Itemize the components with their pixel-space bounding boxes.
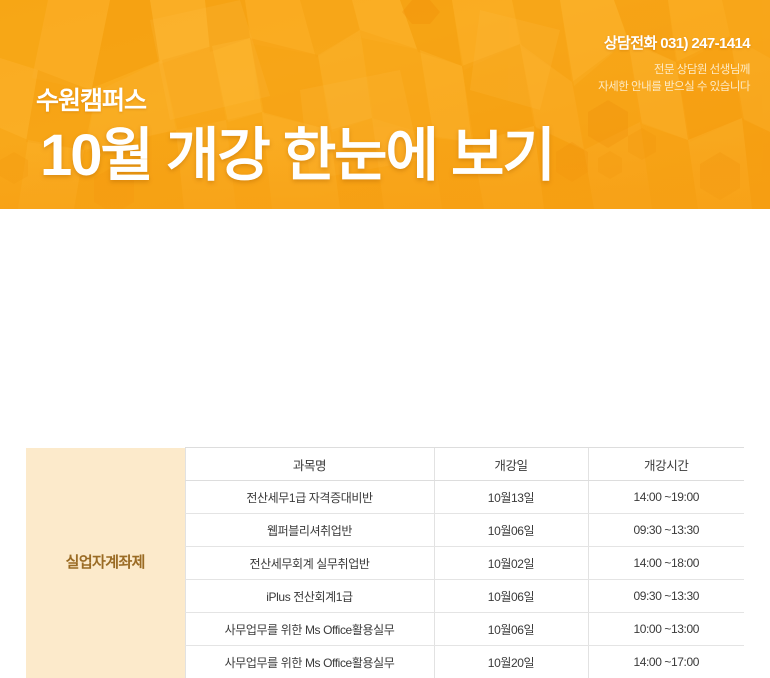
cell-subject: 사무업무를 위한 Ms Office활용실무 <box>185 613 434 646</box>
cell-subject: 전산세무1급 자격증대비반 <box>185 481 434 514</box>
contact-note-line-2: 자세한 안내를 받으실 수 있습니다 <box>598 79 750 96</box>
header-banner: 수원캠퍼스 10월 개강 한눈에 보기 상담전화 031) 247-1414 전… <box>0 0 770 209</box>
cell-date: 10월02일 <box>434 547 588 580</box>
page-title: 10월 개강 한눈에 보기 <box>40 124 554 188</box>
cell-subject: iPlus 전산회계1급 <box>185 580 434 613</box>
cell-time: 14:00 ~18:00 <box>588 547 744 580</box>
cell-time: 09:30 ~13:30 <box>588 580 744 613</box>
cell-subject: 전산세무회계 실무취업반 <box>185 547 434 580</box>
cell-time: 09:30 ~13:30 <box>588 514 744 547</box>
cell-time: 10:00 ~13:00 <box>588 613 744 646</box>
cell-time: 14:00 ~17:00 <box>588 646 744 678</box>
cell-date: 10월20일 <box>434 646 588 678</box>
cell-date: 10월06일 <box>434 580 588 613</box>
contact-note: 전문 상담원 선생님께 자세한 안내를 받으실 수 있습니다 <box>598 62 750 97</box>
page-root: 수원캠퍼스 10월 개강 한눈에 보기 상담전화 031) 247-1414 전… <box>0 0 770 678</box>
cell-date: 10월13일 <box>434 481 588 514</box>
category-cell-1: 실업자계좌제 <box>26 448 185 678</box>
contact-note-line-1: 전문 상담원 선생님께 <box>598 62 750 79</box>
table-header-row: 실업자계좌제 과목명 개강일 개강시간 <box>26 448 744 481</box>
cell-subject: 사무업무를 위한 Ms Office활용실무 <box>185 646 434 678</box>
column-header-start-time: 개강시간 <box>588 448 744 481</box>
column-header-start-date: 개강일 <box>434 448 588 481</box>
cell-date: 10월06일 <box>434 613 588 646</box>
cell-subject: 웹퍼블리셔취업반 <box>185 514 434 547</box>
contact-block: 상담전화 031) 247-1414 전문 상담원 선생님께 자세한 안내를 받… <box>598 32 750 97</box>
column-header-subject: 과목명 <box>185 448 434 481</box>
cell-date: 10월06일 <box>434 514 588 547</box>
category-label-1: 실업자계좌제 <box>66 554 145 571</box>
contact-phone: 상담전화 031) 247-1414 <box>598 32 750 53</box>
campus-label: 수원캠퍼스 <box>36 81 146 117</box>
schedule-table-unemployment: 실업자계좌제 과목명 개강일 개강시간 전산세무1급 자격증대비반 10월13일… <box>26 447 744 678</box>
cell-time: 14:00 ~19:00 <box>588 481 744 514</box>
